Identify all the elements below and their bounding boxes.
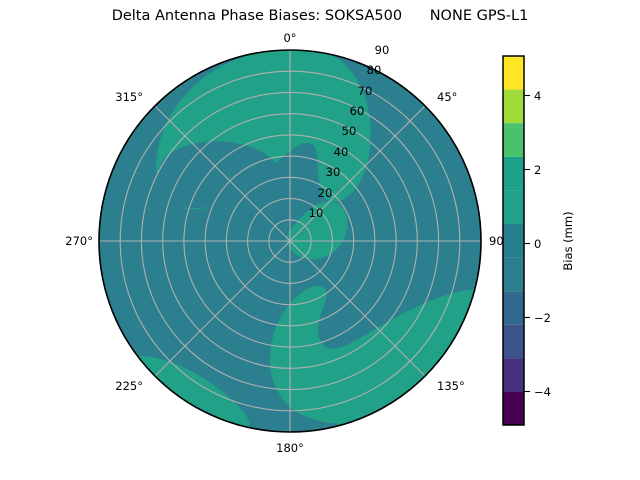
r-label-40: 40 <box>334 145 349 159</box>
polar-chart-svg: 0° 45° 90 135° 180° 225° 270° 315° 10 20… <box>0 0 640 480</box>
colorbar-band-8 <box>503 123 524 157</box>
colorbar-bands <box>503 56 524 425</box>
r-label-80: 80 <box>367 63 382 77</box>
colorbar-tick-label-2: 2 <box>534 163 541 177</box>
polar-plot-area: 0° 45° 90 135° 180° 225° 270° 315° 10 20… <box>65 31 503 455</box>
colorbar-band-3 <box>503 291 524 325</box>
colorbar-tick-label-neg4: −4 <box>534 385 551 399</box>
colorbar-band-1 <box>503 358 524 392</box>
r-label-20: 20 <box>318 186 333 200</box>
colorbar-tick-label-4: 4 <box>534 89 541 103</box>
page-title: Delta Antenna Phase Biases: SOKSA500 NON… <box>0 8 640 24</box>
colorbar-band-0 <box>503 392 524 425</box>
r-label-60: 60 <box>350 104 365 118</box>
colorbar-band-6 <box>503 190 524 224</box>
colorbar-axis-label: Bias (mm) <box>561 211 575 270</box>
figure-canvas: Delta Antenna Phase Biases: SOKSA500 NON… <box>0 0 640 480</box>
colorbar-band-4 <box>503 258 524 292</box>
r-label-70: 70 <box>358 84 373 98</box>
theta-label-0: 0° <box>283 31 296 45</box>
colorbar-tick-label-0: 0 <box>534 237 541 251</box>
theta-label-225: 225° <box>115 379 143 393</box>
r-label-50: 50 <box>342 124 357 138</box>
colorbar-band-10 <box>503 56 524 90</box>
theta-label-45: 45° <box>437 90 457 104</box>
theta-label-270: 270° <box>65 234 93 248</box>
r-label-90: 90 <box>375 43 390 57</box>
r-label-10: 10 <box>309 206 324 220</box>
r-label-30: 30 <box>326 165 341 179</box>
colorbar: 4 2 0 −2 −4 Bias (mm) <box>503 56 575 425</box>
colorbar-ticks <box>524 96 530 392</box>
colorbar-tick-label-neg2: −2 <box>534 311 551 325</box>
theta-label-180: 180° <box>276 441 304 455</box>
colorbar-tick-labels: 4 2 0 −2 −4 <box>534 89 551 399</box>
theta-label-135: 135° <box>437 379 465 393</box>
theta-label-315: 315° <box>115 90 143 104</box>
theta-label-90: 90 <box>489 234 504 248</box>
colorbar-band-7 <box>503 157 524 191</box>
colorbar-band-9 <box>503 90 524 124</box>
colorbar-band-2 <box>503 325 524 359</box>
colorbar-band-5 <box>503 224 524 258</box>
polar-angular-gridlines <box>99 50 481 432</box>
